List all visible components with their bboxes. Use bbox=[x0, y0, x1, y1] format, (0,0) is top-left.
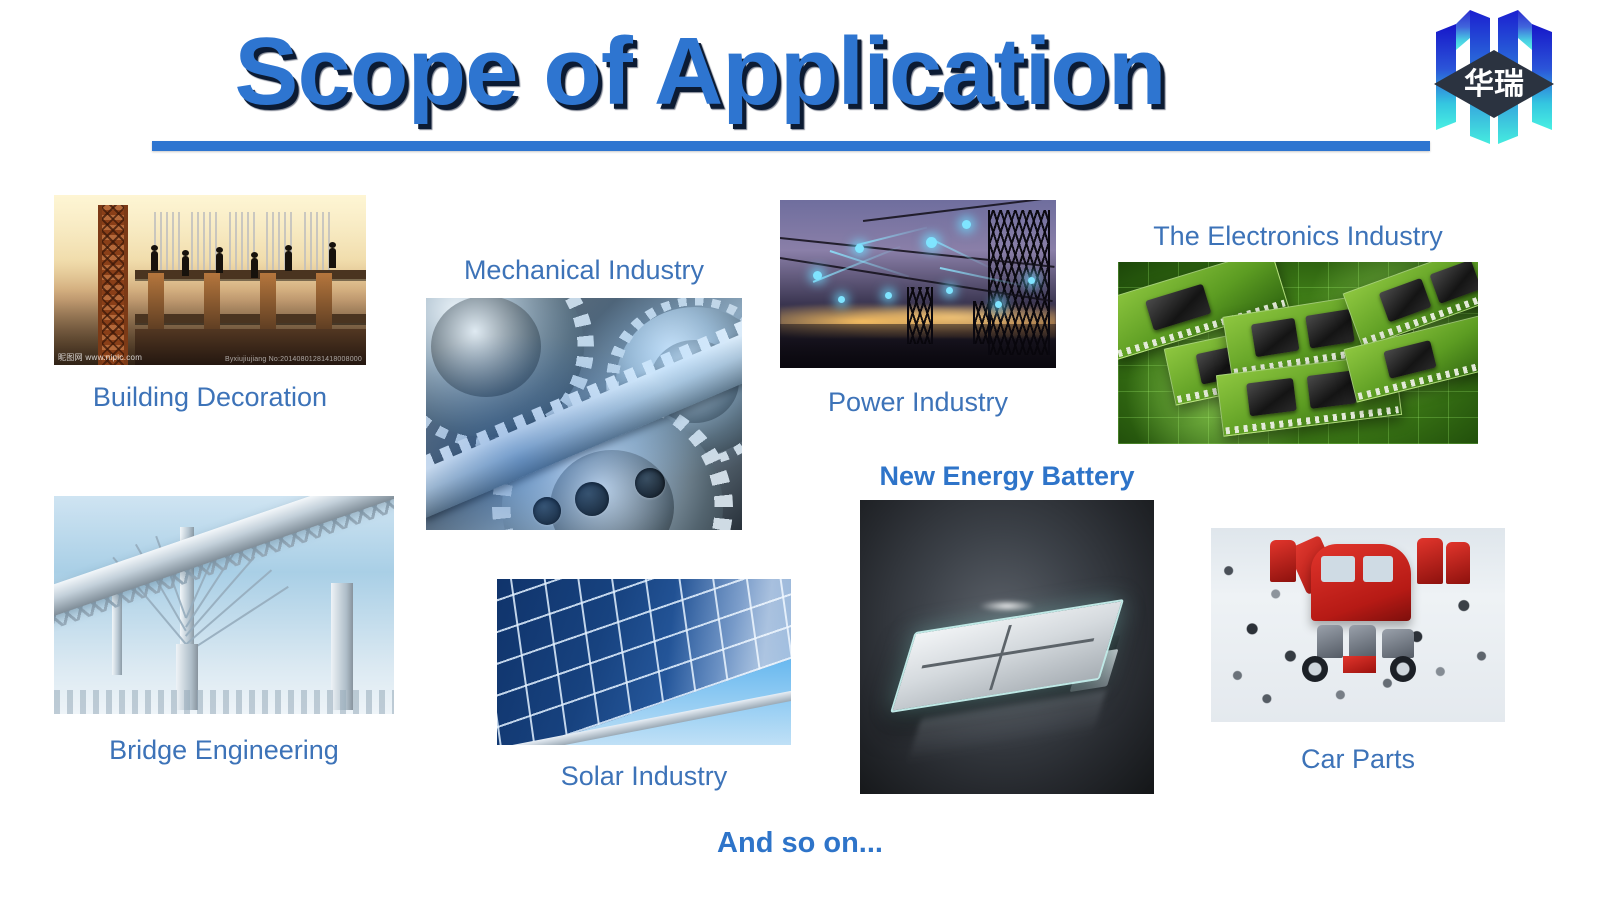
image-electronics-industry bbox=[1118, 262, 1478, 444]
label-car-parts: Car Parts bbox=[1211, 744, 1505, 775]
logo-text: 华瑞 bbox=[1464, 67, 1524, 102]
image-new-energy-battery bbox=[860, 500, 1154, 794]
label-mechanical-industry: Mechanical Industry bbox=[426, 255, 742, 286]
label-bridge-engineering: Bridge Engineering bbox=[54, 735, 394, 766]
label-solar-industry: Solar Industry bbox=[497, 761, 791, 792]
image-building-decoration: 昵图网 www.nipic.com Byxiujiujiang No:20140… bbox=[54, 195, 366, 365]
label-electronics-industry: The Electronics Industry bbox=[1118, 221, 1478, 252]
hua-rui-logo: 华瑞 bbox=[1398, 4, 1588, 156]
image-watermark: 昵图网 www.nipic.com bbox=[58, 352, 142, 363]
label-new-energy-battery: New Energy Battery bbox=[860, 461, 1154, 492]
label-building-decoration: Building Decoration bbox=[54, 382, 366, 413]
image-bridge-engineering bbox=[54, 496, 394, 714]
image-solar-industry bbox=[497, 579, 791, 745]
image-watermark-right: Byxiujiujiang No:20140801281418008000 bbox=[225, 356, 362, 363]
image-power-industry bbox=[780, 200, 1056, 368]
page-title: Scope of Application bbox=[0, 18, 1400, 126]
label-power-industry: Power Industry bbox=[780, 387, 1056, 418]
image-car-parts bbox=[1211, 528, 1505, 722]
footer-note: And so on... bbox=[500, 827, 1100, 860]
image-mechanical-industry bbox=[426, 298, 742, 530]
title-underline-rule bbox=[152, 141, 1430, 151]
logo-svg: 华瑞 bbox=[1398, 4, 1588, 156]
